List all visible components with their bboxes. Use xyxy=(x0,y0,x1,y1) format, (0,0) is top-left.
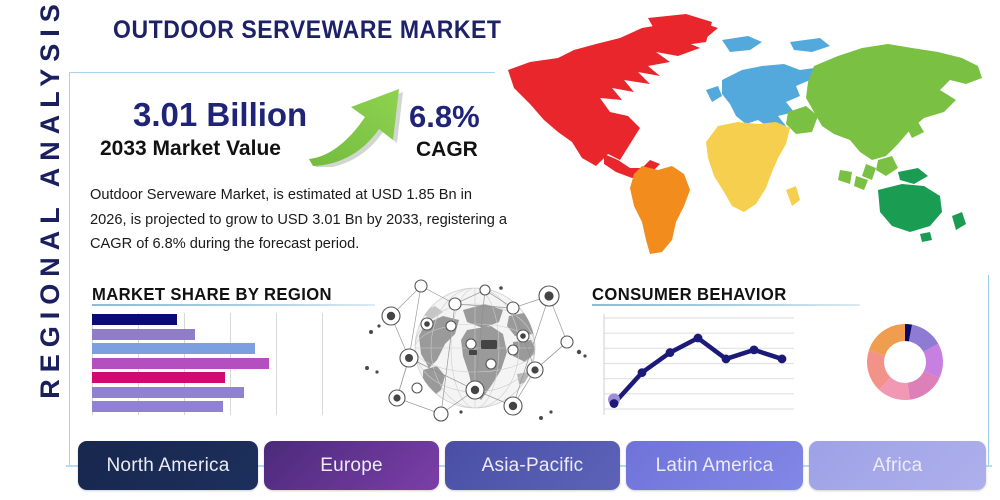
line-marker xyxy=(638,368,647,377)
map-africa xyxy=(706,122,800,212)
market-value-figure: 3.01 Billion xyxy=(133,96,307,134)
region-pill-label: North America xyxy=(107,455,230,477)
segment-donut-chart xyxy=(855,310,955,415)
line-chart-markers xyxy=(608,334,786,408)
map-asia xyxy=(786,44,982,190)
bar-item xyxy=(92,343,255,354)
global-network-icon xyxy=(363,272,588,424)
bar-fill xyxy=(92,387,244,398)
bar-fill xyxy=(92,343,255,354)
line-chart-gridlines xyxy=(604,318,794,409)
bar-item xyxy=(92,401,223,412)
bar-item xyxy=(92,387,244,398)
infographic-root: REGIONAL ANALYSIS OUTDOOR SERVEWARE MARK… xyxy=(0,0,1000,500)
cagr-figure: 6.8% xyxy=(409,99,480,135)
region-pill-label: Africa xyxy=(873,455,923,477)
bar-gridline xyxy=(322,313,323,415)
map-oceania xyxy=(878,168,966,242)
market-share-rule xyxy=(92,304,375,306)
market-share-heading: MARKET SHARE BY REGION xyxy=(92,284,332,305)
bar-gridline xyxy=(276,313,277,415)
region-pill-label: Latin America xyxy=(656,455,774,477)
bar-fill xyxy=(92,314,177,325)
market-description: Outdoor Serveware Market, is estimated a… xyxy=(90,183,510,257)
line-marker xyxy=(666,348,675,357)
region-pill-label: Europe xyxy=(320,455,382,477)
region-pill-asia-pacific[interactable]: Asia-Pacific xyxy=(445,441,620,490)
consumer-behavior-rule xyxy=(592,304,860,306)
region-pill-africa[interactable]: Africa xyxy=(809,441,986,490)
map-north-america xyxy=(508,14,718,189)
bar-fill xyxy=(92,372,225,383)
donut-hole xyxy=(884,341,926,383)
consumer-behavior-line-chart xyxy=(600,312,796,417)
line-marker xyxy=(750,345,759,354)
map-south-america xyxy=(630,166,690,254)
bar-fill xyxy=(92,329,195,340)
region-pill-north-america[interactable]: North America xyxy=(78,441,258,490)
world-map xyxy=(500,8,990,258)
line-marker xyxy=(694,334,703,343)
market-share-bar-chart xyxy=(92,313,322,415)
bar-item xyxy=(92,329,195,340)
line-marker xyxy=(722,355,731,364)
growth-arrow-icon xyxy=(303,85,408,167)
page-title: OUTDOOR SERVEWARE MARKET xyxy=(113,16,502,45)
bar-fill xyxy=(92,358,269,369)
side-label: REGIONAL ANALYSIS xyxy=(27,0,73,398)
bar-item xyxy=(92,358,269,369)
consumer-behavior-heading: CONSUMER BEHAVIOR xyxy=(592,284,787,305)
bar-item xyxy=(92,372,225,383)
bar-item xyxy=(92,314,177,325)
region-pill-label: Asia-Pacific xyxy=(482,455,584,477)
line-marker xyxy=(610,399,619,408)
region-pill-europe[interactable]: Europe xyxy=(264,441,439,490)
market-value-caption: 2033 Market Value xyxy=(100,137,281,161)
line-marker xyxy=(778,355,787,364)
cagr-caption: CAGR xyxy=(416,138,478,162)
region-pill-latin-america[interactable]: Latin America xyxy=(626,441,803,490)
bar-fill xyxy=(92,401,223,412)
